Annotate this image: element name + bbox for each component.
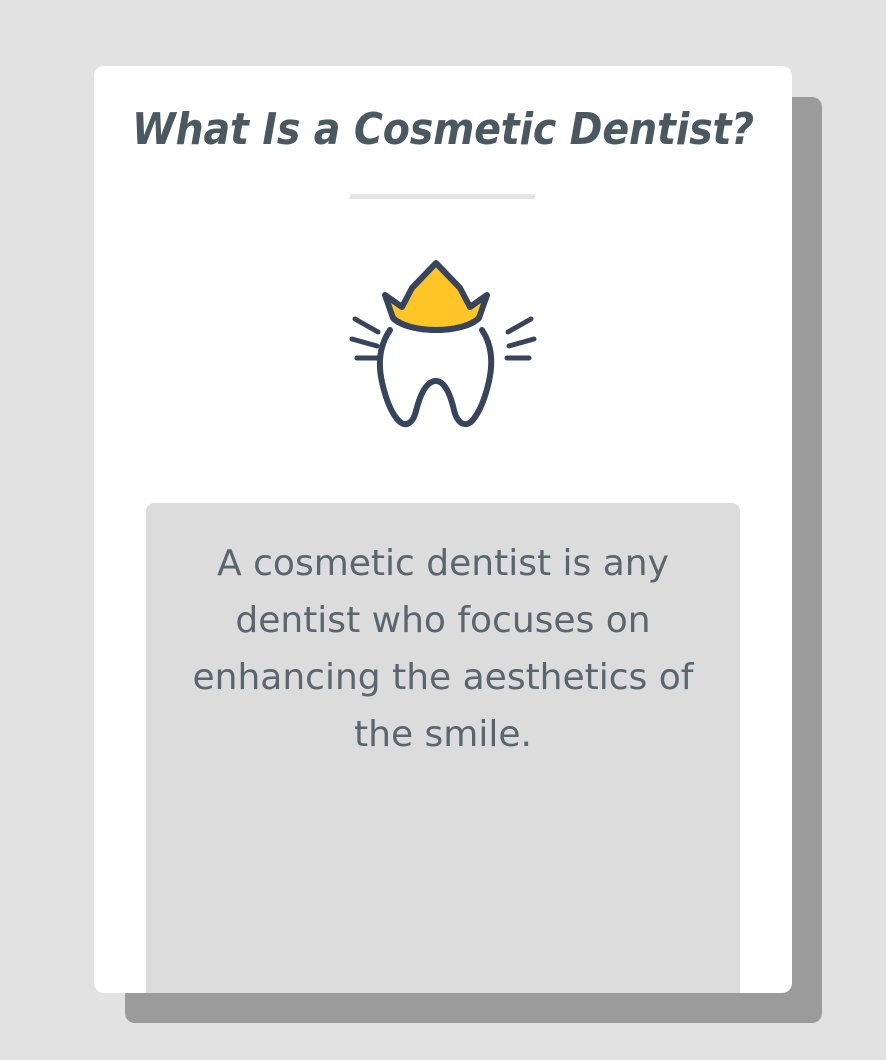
- content-card: What Is a Cosmetic Dentist?: [94, 66, 792, 993]
- page-title: What Is a Cosmetic Dentist?: [94, 104, 792, 155]
- title-divider: [350, 194, 535, 199]
- info-box: A cosmetic dentist is any dentist who fo…: [146, 503, 740, 993]
- info-box-body-text: A cosmetic dentist is any dentist who fo…: [168, 535, 718, 763]
- slide-canvas: What Is a Cosmetic Dentist?: [0, 0, 886, 1060]
- crowned-tooth-icon: [349, 260, 537, 432]
